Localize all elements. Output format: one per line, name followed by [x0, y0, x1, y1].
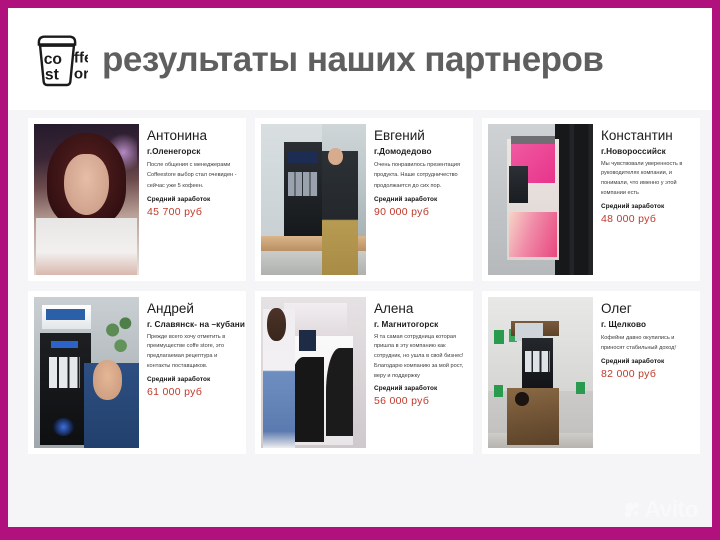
testimonial-card[interactable]: Олег г. Щелково Кофейни давно окупились …: [482, 291, 700, 454]
earnings-label: Средний заработок: [601, 203, 692, 210]
earnings-label: Средний заработок: [147, 376, 238, 383]
svg-text:ore: ore: [74, 65, 88, 82]
partner-city: г.Домодедово: [374, 147, 465, 156]
avito-wordmark: Avito: [644, 498, 698, 521]
earnings-value: 48 000 руб: [601, 213, 692, 225]
partner-name: Константин: [601, 128, 692, 144]
partner-photo: [488, 124, 593, 275]
partner-quote: Я та самая сотрудница которая пришла в э…: [374, 333, 465, 382]
partner-name: Олег: [601, 301, 692, 317]
partner-quote: Очень понравилось презентация продукта. …: [374, 160, 465, 193]
partner-photo: [34, 297, 139, 448]
earnings-value: 61 000 руб: [147, 386, 238, 398]
avito-watermark: Avito: [624, 498, 698, 521]
partner-quote: Кофейни давно окупились и приносят стаби…: [601, 333, 692, 355]
header: co st ffee ore результаты наших партнеро…: [8, 8, 712, 110]
partner-city: г. Славянск- на –кубани: [147, 320, 238, 329]
svg-text:ffee: ffee: [74, 50, 88, 67]
earnings-label: Средний заработок: [147, 196, 238, 203]
partner-city: г.Новороссийск: [601, 147, 692, 156]
partner-quote: Мы чувствовали уверенность в руководител…: [601, 160, 692, 199]
partner-name: Антонина: [147, 128, 238, 144]
testimonials-grid: Антонина г.Оленегорск После общения с ме…: [8, 110, 712, 454]
partner-city: г.Оленегорск: [147, 147, 238, 156]
partner-photo: [261, 124, 366, 275]
content-sheet: co st ffee ore результаты наших партнеро…: [8, 8, 712, 527]
earnings-value: 90 000 руб: [374, 206, 465, 218]
card-body: Алена г. Магнитогорск Я та самая сотрудн…: [366, 297, 467, 448]
testimonial-card[interactable]: Константин г.Новороссийск Мы чувствовали…: [482, 118, 700, 281]
partner-quote: Прежде всего хочу отметить в преимуществ…: [147, 333, 238, 372]
partner-name: Алена: [374, 301, 465, 317]
earnings-value: 45 700 руб: [147, 206, 238, 218]
earnings-label: Средний заработок: [374, 385, 465, 392]
page-title: результаты наших партнеров: [102, 42, 603, 77]
partner-name: Евгений: [374, 128, 465, 144]
testimonial-card[interactable]: Алена г. Магнитогорск Я та самая сотрудн…: [255, 291, 473, 454]
partner-name: Андрей: [147, 301, 238, 317]
earnings-value: 82 000 руб: [601, 368, 692, 380]
card-body: Андрей г. Славянск- на –кубани Прежде вс…: [139, 297, 240, 448]
testimonial-card[interactable]: Андрей г. Славянск- на –кубани Прежде вс…: [28, 291, 246, 454]
earnings-label: Средний заработок: [601, 358, 692, 365]
avito-dots-icon: [624, 501, 641, 518]
card-body: Антонина г.Оленегорск После общения с ме…: [139, 124, 240, 275]
svg-text:co: co: [44, 51, 62, 68]
testimonial-card[interactable]: Евгений г.Домодедово Очень понравилось п…: [255, 118, 473, 281]
card-body: Константин г.Новороссийск Мы чувствовали…: [593, 124, 694, 275]
testimonials-section: Антонина г.Оленегорск После общения с ме…: [8, 110, 712, 527]
testimonial-card[interactable]: Антонина г.Оленегорск После общения с ме…: [28, 118, 246, 281]
partner-city: г. Щелково: [601, 320, 692, 329]
earnings-value: 56 000 руб: [374, 395, 465, 407]
coffee-store-logo-icon: co st ffee ore: [26, 30, 88, 88]
partner-photo: [488, 297, 593, 448]
partner-city: г. Магнитогорск: [374, 320, 465, 329]
earnings-label: Средний заработок: [374, 196, 465, 203]
partner-photo: [34, 124, 139, 275]
card-body: Евгений г.Домодедово Очень понравилось п…: [366, 124, 467, 275]
svg-text:st: st: [45, 67, 60, 84]
partner-quote: После общения с менеджерами Coffeestore …: [147, 160, 238, 193]
card-body: Олег г. Щелково Кофейни давно окупились …: [593, 297, 694, 448]
partner-photo: [261, 297, 366, 448]
page-root: co st ffee ore результаты наших партнеро…: [0, 0, 720, 540]
